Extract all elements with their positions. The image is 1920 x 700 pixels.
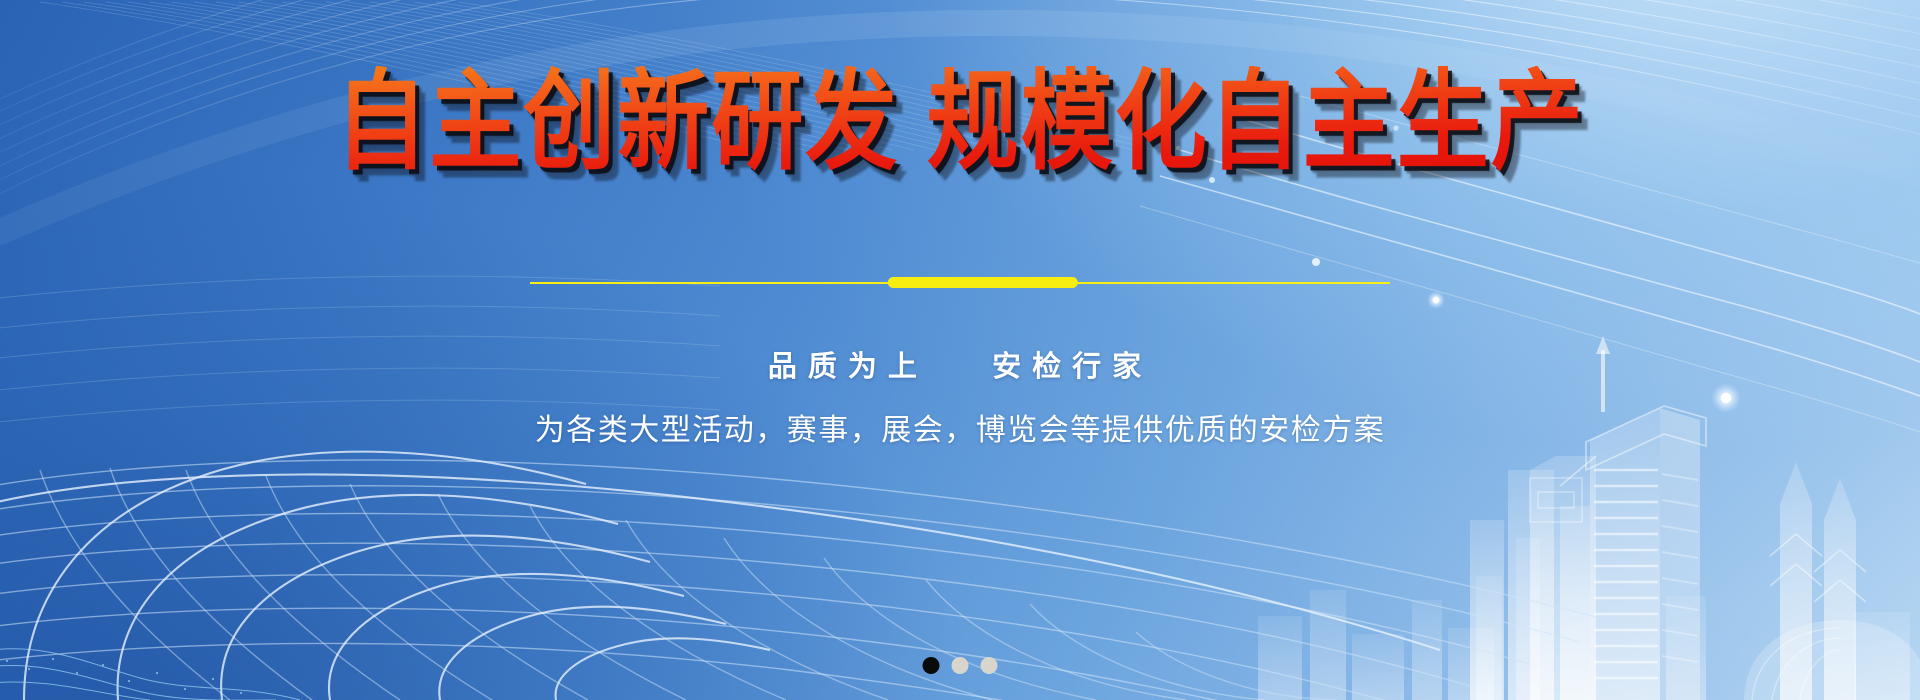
divider bbox=[530, 275, 1390, 291]
subtitle-secondary: 为各类大型活动，赛事，展会，博览会等提供优质的安检方案 bbox=[535, 405, 1386, 449]
page-title: 自主创新研发 规模化自主生产 bbox=[335, 66, 1585, 180]
subtitle-primary-part-b: 安检行家 bbox=[992, 351, 1152, 383]
carousel-dot-3[interactable] bbox=[981, 657, 998, 674]
subtitle-primary: 品质为上 安检行家 bbox=[768, 343, 1152, 385]
hero-banner: 自主创新研发 规模化自主生产 品质为上 安检行家 为各类大型活动，赛事，展会，博… bbox=[0, 0, 1920, 700]
carousel-indicators[interactable] bbox=[923, 657, 998, 674]
carousel-dot-1[interactable] bbox=[923, 657, 940, 674]
divider-accent-bar bbox=[888, 277, 1078, 288]
carousel-dot-2[interactable] bbox=[952, 657, 969, 674]
banner-content: 自主创新研发 规模化自主生产 品质为上 安检行家 为各类大型活动，赛事，展会，博… bbox=[0, 0, 1920, 700]
subtitle-primary-part-a: 品质为上 bbox=[768, 351, 928, 383]
